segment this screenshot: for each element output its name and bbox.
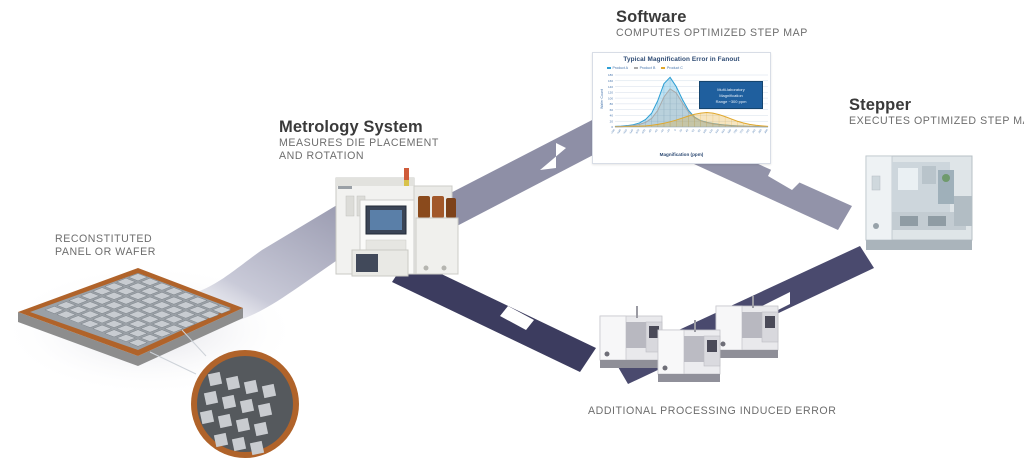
legend-item-1: Product B	[634, 66, 655, 70]
svg-text:260: 260	[751, 128, 757, 134]
metrology-label-group: Metrology System MEASURES DIE PLACEMENT …	[279, 118, 439, 163]
svg-text:40: 40	[684, 128, 689, 133]
svg-text:160: 160	[720, 128, 726, 134]
svg-text:220: 220	[739, 128, 745, 134]
metrology-subtitle-line2: AND ROTATION	[279, 150, 439, 163]
svg-text:-60: -60	[653, 128, 659, 134]
svg-text:-80: -80	[647, 128, 653, 134]
metrology-title: Metrology System	[279, 118, 439, 137]
software-label-group: Software COMPUTES OPTIMIZED STEP MAP	[616, 8, 808, 40]
metrology-subtitle-line1: MEASURES DIE PLACEMENT	[279, 137, 439, 150]
svg-text:200: 200	[732, 128, 738, 134]
svg-text:120: 120	[608, 91, 613, 95]
svg-text:180: 180	[726, 128, 732, 134]
legend-swatch-0	[607, 67, 611, 69]
svg-text:20: 20	[610, 119, 614, 123]
svg-text:20: 20	[678, 128, 683, 133]
svg-text:160: 160	[608, 79, 613, 83]
callout-line-3: Range ~300 ppm	[716, 99, 747, 104]
svg-text:60: 60	[610, 108, 614, 112]
svg-text:40: 40	[610, 114, 614, 118]
svg-text:-100: -100	[640, 128, 647, 135]
diagram-canvas: Typical Magnification Error in Fanout Pr…	[0, 0, 1024, 463]
legend-item-0: Product A	[607, 66, 628, 70]
legend-label-0: Product A	[613, 66, 629, 70]
processing-caption: ADDITIONAL PROCESSING INDUCED ERROR	[588, 405, 836, 417]
svg-text:80: 80	[697, 128, 702, 133]
stepper-tool-icon	[0, 0, 1024, 463]
panel-label-group: RECONSTITUTED PANEL OR WAFER	[55, 233, 156, 259]
stepper-label-group: Stepper EXECUTES OPTIMIZED STEP MAP	[849, 96, 1024, 128]
svg-text:240: 240	[745, 128, 751, 134]
legend-label-2: Product C	[667, 66, 683, 70]
chart-x-axis-title: Magnification (ppm)	[593, 152, 770, 157]
svg-text:120: 120	[708, 128, 714, 134]
processing-caption-group: ADDITIONAL PROCESSING INDUCED ERROR	[588, 405, 836, 417]
software-subtitle: COMPUTES OPTIMIZED STEP MAP	[616, 27, 808, 40]
software-chart-popup-icon[interactable]: Typical Magnification Error in Fanout Pr…	[592, 52, 771, 164]
svg-text:300: 300	[763, 128, 769, 134]
svg-text:100: 100	[702, 128, 708, 134]
svg-text:-20: -20	[665, 128, 671, 134]
chart-annotation-callout: Multi-laboratory Magnification Range ~30…	[699, 81, 763, 109]
svg-text:-180: -180	[616, 128, 623, 135]
software-title: Software	[616, 8, 808, 27]
legend-label-1: Product B	[640, 66, 656, 70]
callout-line-2: Magnification	[719, 93, 743, 98]
svg-text:0: 0	[611, 125, 613, 129]
svg-text:-160: -160	[622, 128, 629, 135]
stepper-subtitle: EXECUTES OPTIMIZED STEP MAP	[849, 115, 1024, 128]
chart-title: Typical Magnification Error in Fanout	[593, 56, 770, 63]
svg-text:0: 0	[673, 128, 677, 132]
svg-text:-40: -40	[659, 128, 665, 134]
callout-line-1: Multi-laboratory	[717, 87, 745, 92]
svg-text:140: 140	[608, 85, 613, 89]
svg-text:180: 180	[608, 73, 613, 77]
svg-text:100: 100	[608, 96, 613, 100]
svg-text:60: 60	[690, 128, 695, 133]
legend-swatch-2	[661, 67, 665, 69]
svg-text:-140: -140	[628, 128, 635, 135]
svg-text:-120: -120	[634, 128, 641, 135]
chart-legend: Product A Product B Product C	[607, 66, 683, 70]
legend-item-2: Product C	[661, 66, 682, 70]
stepper-title: Stepper	[849, 96, 1024, 115]
panel-label-line1: RECONSTITUTED	[55, 233, 156, 246]
panel-label-line2: PANEL OR WAFER	[55, 246, 156, 259]
svg-text:140: 140	[714, 128, 720, 134]
svg-text:80: 80	[610, 102, 614, 106]
legend-swatch-1	[634, 67, 638, 69]
svg-text:280: 280	[757, 128, 763, 134]
